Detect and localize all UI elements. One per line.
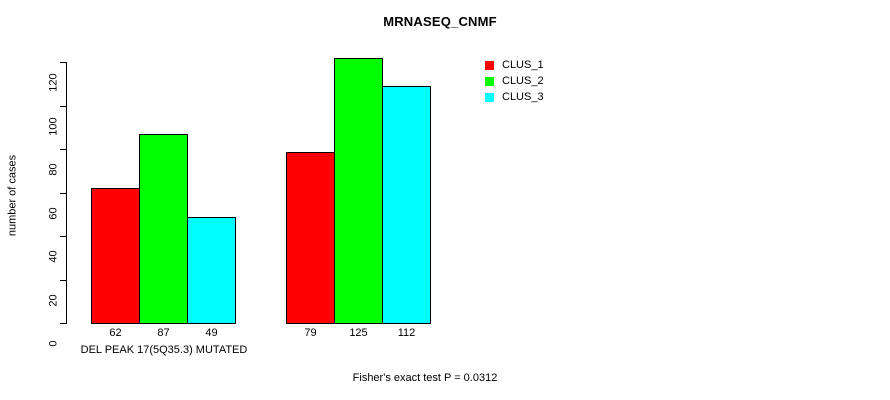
legend-item-clus1: CLUS_1 — [484, 58, 544, 73]
bar-value-group2-clus1: 79 — [286, 328, 335, 339]
bar-group2-clus1 — [286, 152, 335, 324]
bar-group1-clus2 — [139, 134, 188, 324]
bar-value-group1-clus1: 62 — [91, 328, 140, 339]
y-axis-tick-label-120-wrap: 120 — [10, 57, 54, 68]
bar-group1-clus1 — [91, 188, 140, 324]
bar-group2-clus3 — [382, 86, 431, 324]
bar-group1-clus3 — [187, 217, 236, 324]
legend-label-clus3: CLUS_3 — [502, 92, 544, 103]
y-axis-tick-label-40: 40 — [49, 237, 60, 277]
y-axis-tick-60 — [60, 193, 66, 194]
legend-swatch-clus2 — [484, 76, 495, 87]
bar-value-group2-clus3: 112 — [382, 328, 431, 339]
y-axis-tick-0 — [60, 323, 66, 324]
legend-label-clus2: CLUS_2 — [502, 76, 544, 87]
bar-value-group1-clus2: 87 — [139, 328, 188, 339]
y-axis-tick-label-120: 120 — [49, 63, 60, 103]
legend-label-clus1: CLUS_1 — [502, 60, 544, 71]
legend-item-clus2: CLUS_2 — [484, 74, 544, 89]
legend-swatch-clus3 — [484, 92, 495, 103]
y-axis-tick-label-80: 80 — [49, 150, 60, 190]
y-axis-title: number of cases — [8, 136, 19, 256]
footer-annotation: Fisher's exact test P = 0.0312 — [0, 372, 870, 384]
y-axis-tick-20 — [60, 280, 66, 281]
legend-swatch-clus1 — [484, 60, 495, 71]
y-axis-tick-120 — [60, 62, 66, 63]
bar-group2-clus2 — [334, 58, 383, 324]
y-axis-tick-label-20: 20 — [49, 281, 60, 321]
y-axis-tick-label-100-wrap: 100 — [10, 101, 54, 112]
legend-item-clus3: CLUS_3 — [484, 90, 544, 105]
bar-value-group2-clus2: 125 — [334, 328, 383, 339]
bar-value-group1-clus3: 49 — [187, 328, 236, 339]
chart-figure: MRNASEQ_CNMF 0 20 40 60 80 100 120 — [0, 0, 890, 400]
y-axis-tick-label-60: 60 — [49, 194, 60, 234]
y-axis-tick-40 — [60, 236, 66, 237]
legend: CLUS_1 CLUS_2 CLUS_3 — [484, 58, 544, 106]
y-axis-tick-label-0-wrap: 0 — [10, 318, 54, 329]
y-axis-tick-label-20-wrap: 20 — [10, 275, 54, 286]
y-axis-tick-80 — [60, 149, 66, 150]
y-axis-tick-100 — [60, 106, 66, 107]
y-axis-line — [66, 62, 67, 324]
plot-area: 0 20 40 60 80 100 120 number of cases 62… — [0, 0, 890, 400]
group-label-left: DEL PEAK 17(5Q35.3) MUTATED — [44, 344, 284, 356]
y-axis-tick-label-100: 100 — [49, 107, 60, 147]
